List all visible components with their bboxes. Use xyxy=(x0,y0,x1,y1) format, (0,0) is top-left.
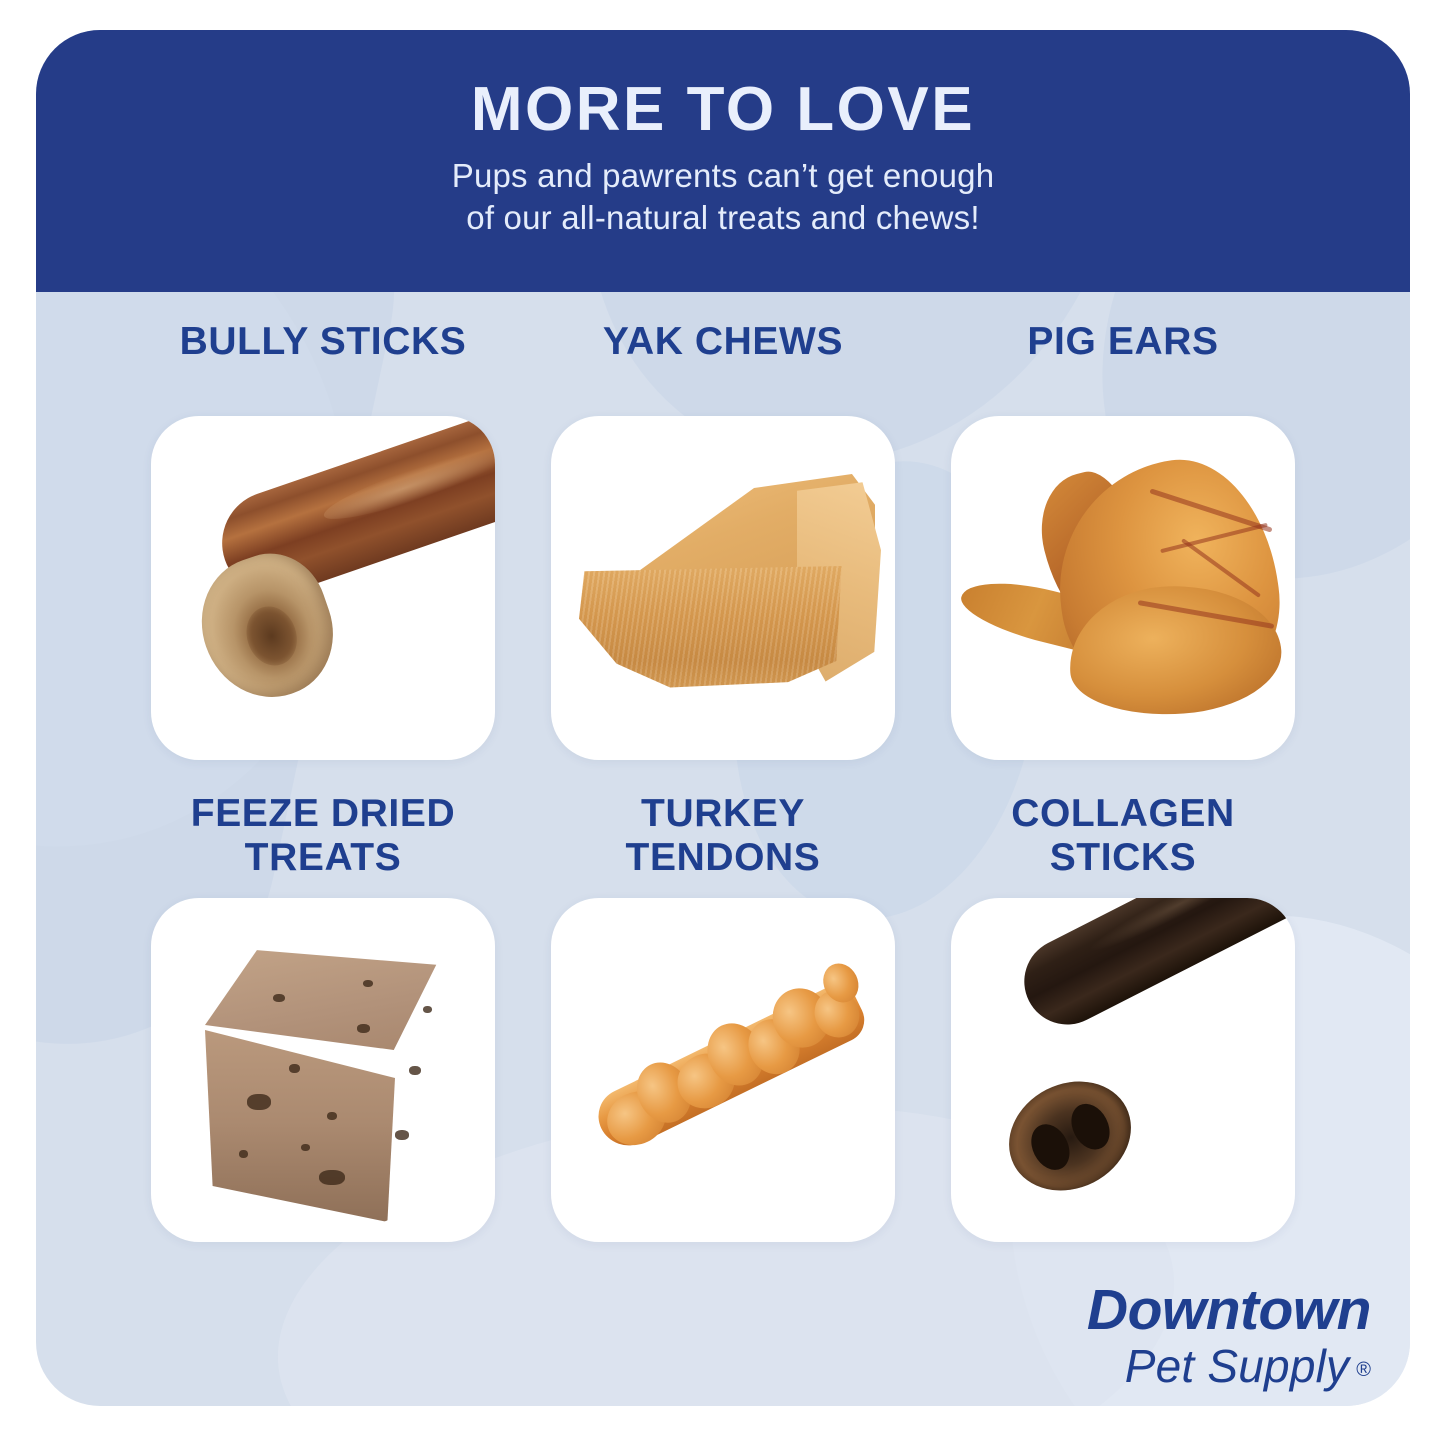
brand-logo: Downtown Pet Supply® xyxy=(1087,1282,1371,1389)
header-subtitle-line-1: Pups and pawrents can’t get enough xyxy=(273,155,1173,197)
label-line-1: YAK CHEWS xyxy=(603,320,843,364)
product-cell-pig-ears[interactable]: PIG EARS xyxy=(951,320,1295,760)
product-label-yak-chews: YAK CHEWS xyxy=(603,320,843,416)
product-label-bully-sticks: BULLY STICKS xyxy=(180,320,467,416)
product-row-1: BULLY STICKS YAK CHEWS xyxy=(36,320,1410,760)
logo-line-pet-supply: Pet Supply xyxy=(1125,1340,1349,1392)
label-line-1: BULLY STICKS xyxy=(180,320,467,364)
product-cell-collagen-sticks[interactable]: COLLAGEN STICKS xyxy=(951,792,1295,1242)
collagen-stick-photo xyxy=(951,898,1295,1242)
product-cell-turkey-tendons[interactable]: TURKEY TENDONS xyxy=(551,792,895,1242)
label-line-1: TURKEY xyxy=(626,792,821,836)
freeze-dried-treat-photo xyxy=(151,898,495,1242)
product-label-collagen-sticks: COLLAGEN STICKS xyxy=(1011,792,1235,898)
product-cell-yak-chews[interactable]: YAK CHEWS xyxy=(551,320,895,760)
pig-ear-photo xyxy=(951,416,1295,760)
promo-poster: MORE TO LOVE Pups and pawrents can’t get… xyxy=(0,0,1445,1445)
product-card-turkey-tendons[interactable] xyxy=(551,898,895,1242)
turkey-tendon-photo xyxy=(551,898,895,1242)
header-banner: MORE TO LOVE Pups and pawrents can’t get… xyxy=(36,30,1410,292)
logo-line-pet-supply-row: Pet Supply® xyxy=(1087,1343,1371,1389)
label-line-1: FEEZE DRIED xyxy=(191,792,455,836)
product-card-freeze-dried-treats[interactable] xyxy=(151,898,495,1242)
product-cell-freeze-dried-treats[interactable]: FEEZE DRIED TREATS xyxy=(151,792,495,1242)
logo-line-downtown: Downtown xyxy=(1087,1282,1371,1339)
product-cell-bully-sticks[interactable]: BULLY STICKS xyxy=(151,320,495,760)
product-label-turkey-tendons: TURKEY TENDONS xyxy=(626,792,821,898)
label-line-1: PIG EARS xyxy=(1027,320,1218,364)
registered-trademark-icon: ® xyxy=(1356,1359,1371,1381)
label-line-1: COLLAGEN xyxy=(1011,792,1235,836)
product-card-pig-ears[interactable] xyxy=(951,416,1295,760)
product-card-bully-sticks[interactable] xyxy=(151,416,495,760)
header-subtitle-line-2: of our all-natural treats and chews! xyxy=(273,197,1173,239)
product-card-collagen-sticks[interactable] xyxy=(951,898,1295,1242)
product-label-freeze-dried-treats: FEEZE DRIED TREATS xyxy=(191,792,455,898)
page-title: MORE TO LOVE xyxy=(36,78,1410,141)
label-line-2: STICKS xyxy=(1011,836,1235,880)
product-card-yak-chews[interactable] xyxy=(551,416,895,760)
product-row-2: FEEZE DRIED TREATS xyxy=(36,792,1410,1242)
product-grid: BULLY STICKS YAK CHEWS xyxy=(36,292,1410,1406)
yak-chew-photo xyxy=(551,416,895,760)
product-label-pig-ears: PIG EARS xyxy=(1027,320,1218,416)
bully-stick-photo xyxy=(151,416,495,760)
label-line-2: TREATS xyxy=(191,836,455,880)
label-line-2: TENDONS xyxy=(626,836,821,880)
header-subtitle: Pups and pawrents can’t get enough of ou… xyxy=(273,155,1173,239)
